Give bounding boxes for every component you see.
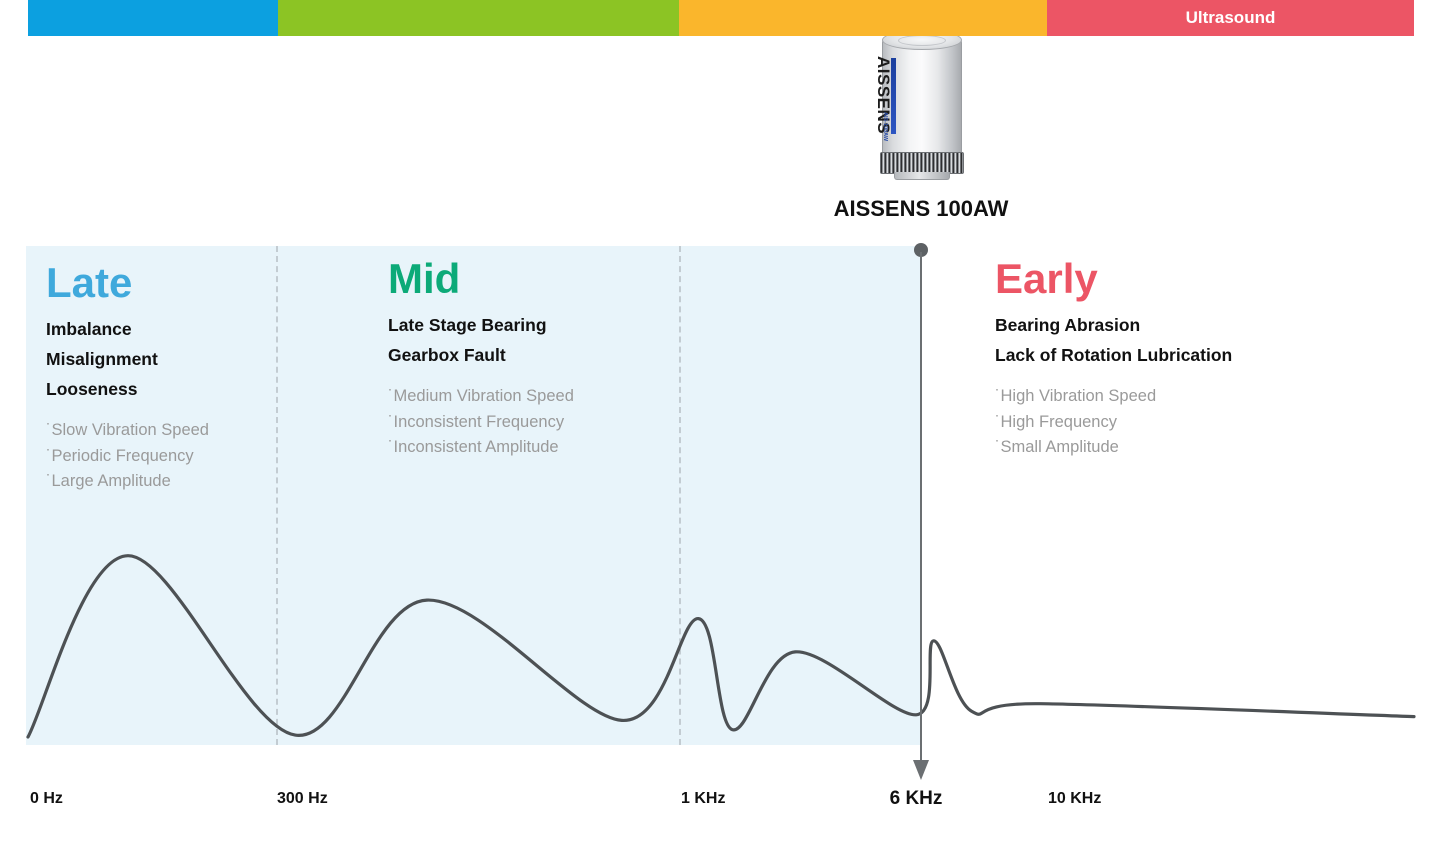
sensor-model-sublabel: AIS-100AW [878,112,888,152]
sensor-device-illustration: AISSENS AIS-100AW [872,28,972,178]
bullet-text: High Vibration Speed [1001,387,1157,405]
fault-item: Gearbox Fault [388,340,688,370]
stage-block-mid: Mid Late Stage Bearing Gearbox Fault ˙Me… [388,258,688,461]
bullet-text: Medium Vibration Speed [394,387,574,405]
sensor-cap-inner-ring [898,35,946,46]
bullet-text: Inconsistent Frequency [394,413,565,431]
fault-item: Lack of Rotation Lubrication [995,340,1325,370]
band-ultrasound: Ultrasound [1047,0,1414,36]
bullet-text: High Frequency [1001,413,1117,431]
band-mid-low [278,0,679,36]
fault-item: Misalignment [46,344,276,374]
bullet-item: ˙Inconsistent Frequency [388,410,688,436]
axis-tick-0hz: 0 Hz [30,790,63,808]
stage-block-early: Early Bearing Abrasion Lack of Rotation … [995,258,1325,461]
bullet-text: Inconsistent Amplitude [394,438,559,456]
sensor-title: AISSENS 100AW [771,196,1071,222]
axis-tick-300hz: 300 Hz [277,790,328,808]
sensor-marker-line [920,252,922,766]
fault-item: Imbalance [46,314,276,344]
stage-bullets-mid: ˙Medium Vibration Speed ˙Inconsistent Fr… [388,384,688,461]
bullet-item: ˙Periodic Frequency [46,444,276,470]
bullet-text: Slow Vibration Speed [52,421,209,439]
bullet-item: ˙Small Amplitude [995,435,1325,461]
fault-item: Bearing Abrasion [995,310,1325,340]
stage-faults-late: Imbalance Misalignment Looseness [46,314,276,404]
stage-title-late: Late [46,262,276,304]
fault-item: Looseness [46,374,276,404]
axis-tick-10khz: 10 KHz [1048,790,1101,808]
stage-title-early: Early [995,258,1325,300]
sensor-foot [894,172,950,180]
band-low [28,0,278,36]
bullet-item: ˙Medium Vibration Speed [388,384,688,410]
infographic-root: AISSENS AIS-100AW AISSENS 100AW Late Imb… [0,0,1440,850]
band-ultrasound-label: Ultrasound [1047,0,1414,36]
bullet-item: ˙Inconsistent Amplitude [388,435,688,461]
stage-title-mid: Mid [388,258,688,300]
bullet-item: ˙Slow Vibration Speed [46,418,276,444]
bullet-text: Large Amplitude [52,472,171,490]
bullet-item: ˙High Frequency [995,410,1325,436]
stage-faults-mid: Late Stage Bearing Gearbox Fault [388,310,688,370]
axis-tick-1khz: 1 KHz [681,790,725,808]
stage-bullets-early: ˙High Vibration Speed ˙High Frequency ˙S… [995,384,1325,461]
bullet-item: ˙High Vibration Speed [995,384,1325,410]
band-mid-low-label [278,0,679,36]
stage-divider-late-mid [276,246,278,745]
fault-item: Late Stage Bearing [388,310,688,340]
sensor-title-text: AISSENS 100AW [834,196,1009,221]
stage-bullets-late: ˙Slow Vibration Speed ˙Periodic Frequenc… [46,418,276,495]
bullet-text: Periodic Frequency [52,447,194,465]
band-mid-high [679,0,1047,36]
stage-block-late: Late Imbalance Misalignment Looseness ˙S… [46,262,276,495]
stage-faults-early: Bearing Abrasion Lack of Rotation Lubric… [995,310,1325,370]
bullet-item: ˙Large Amplitude [46,469,276,495]
band-mid-high-label [679,0,1047,36]
axis-tick-6khz: 6 KHz [890,788,943,810]
bullet-text: Small Amplitude [1001,438,1119,456]
band-low-label [28,0,278,36]
sensor-knurled-base [880,152,964,174]
